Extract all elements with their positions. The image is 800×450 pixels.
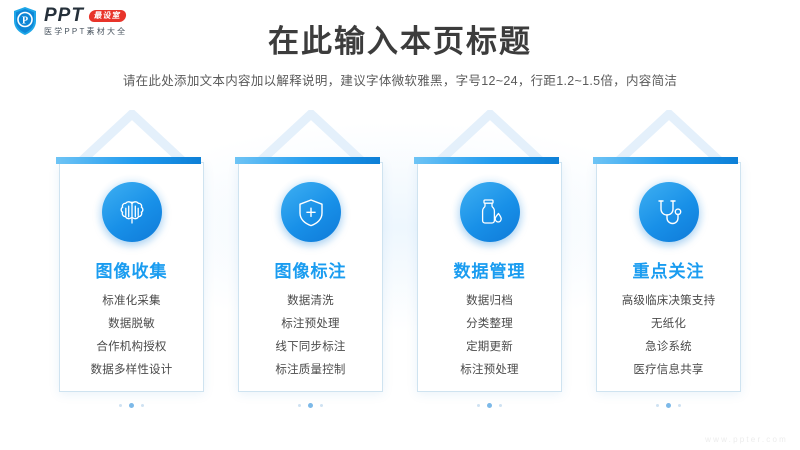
list-item: 标注质量控制 [275, 361, 345, 377]
dot-right [678, 404, 681, 407]
card-icon-wrapper [99, 179, 165, 245]
dot-center [487, 403, 492, 408]
list-item: 线下同步标注 [275, 338, 345, 354]
list-item: 分类整理 [466, 315, 513, 331]
dot-left [656, 404, 659, 407]
card-title: 数据管理 [454, 257, 526, 282]
card-image-annotation[interactable]: 图像标注 数据清洗 标注预处理 线下同步标注 标注质量控制 [238, 110, 383, 410]
card-dots [656, 403, 681, 408]
card-item-list: 标准化采集 数据脱敏 合作机构授权 数据多样性设计 [91, 292, 173, 377]
card-key-focus[interactable]: 重点关注 高级临床决策支持 无纸化 急诊系统 医疗信息共享 [596, 110, 741, 410]
card-item-list: 高级临床决策支持 无纸化 急诊系统 医疗信息共享 [622, 292, 716, 377]
card-row: 图像收集 标准化采集 数据脱敏 合作机构授权 数据多样性设计 [0, 110, 800, 410]
list-item: 定期更新 [466, 338, 513, 354]
dot-left [298, 404, 301, 407]
list-item: 数据归档 [466, 292, 513, 308]
list-item: 数据清洗 [287, 292, 334, 308]
list-item: 标准化采集 [102, 292, 161, 308]
card-icon-wrapper [278, 179, 344, 245]
card-title: 重点关注 [633, 257, 705, 282]
list-item: 标注预处理 [460, 361, 519, 377]
dot-center [666, 403, 671, 408]
card-dots [119, 403, 144, 408]
medicine-bottle-icon [460, 182, 520, 242]
card-icon-wrapper [636, 179, 702, 245]
page-subtitle: 请在此处添加文本内容加以解释说明，建议字体微软雅黑，字号12~24，行距1.2~… [0, 70, 800, 89]
footer-watermark: www.ppter.com [705, 435, 788, 444]
list-item: 高级临床决策支持 [622, 292, 716, 308]
list-item: 数据多样性设计 [91, 361, 173, 377]
card-dots [298, 403, 323, 408]
card-image-collection[interactable]: 图像收集 标准化采集 数据脱敏 合作机构授权 数据多样性设计 [59, 110, 204, 410]
list-item: 标注预处理 [281, 315, 340, 331]
card-title: 图像收集 [96, 257, 168, 282]
dot-left [477, 404, 480, 407]
card-dots [477, 403, 502, 408]
card-item-list: 数据归档 分类整理 定期更新 标注预处理 [460, 292, 519, 377]
list-item: 医疗信息共享 [633, 361, 703, 377]
brain-icon [102, 182, 162, 242]
stethoscope-icon [639, 182, 699, 242]
list-item: 合作机构授权 [96, 338, 166, 354]
dot-center [308, 403, 313, 408]
card-data-management[interactable]: 数据管理 数据归档 分类整理 定期更新 标注预处理 [417, 110, 562, 410]
dot-right [320, 404, 323, 407]
shield-plus-icon [281, 182, 341, 242]
dot-left [119, 404, 122, 407]
page-title: 在此输入本页标题 [0, 16, 800, 61]
list-item: 无纸化 [651, 315, 686, 331]
card-icon-wrapper [457, 179, 523, 245]
list-item: 数据脱敏 [108, 315, 155, 331]
dot-right [499, 404, 502, 407]
dot-right [141, 404, 144, 407]
card-item-list: 数据清洗 标注预处理 线下同步标注 标注质量控制 [275, 292, 345, 377]
dot-center [129, 403, 134, 408]
list-item: 急诊系统 [645, 338, 692, 354]
card-title: 图像标注 [275, 257, 347, 282]
